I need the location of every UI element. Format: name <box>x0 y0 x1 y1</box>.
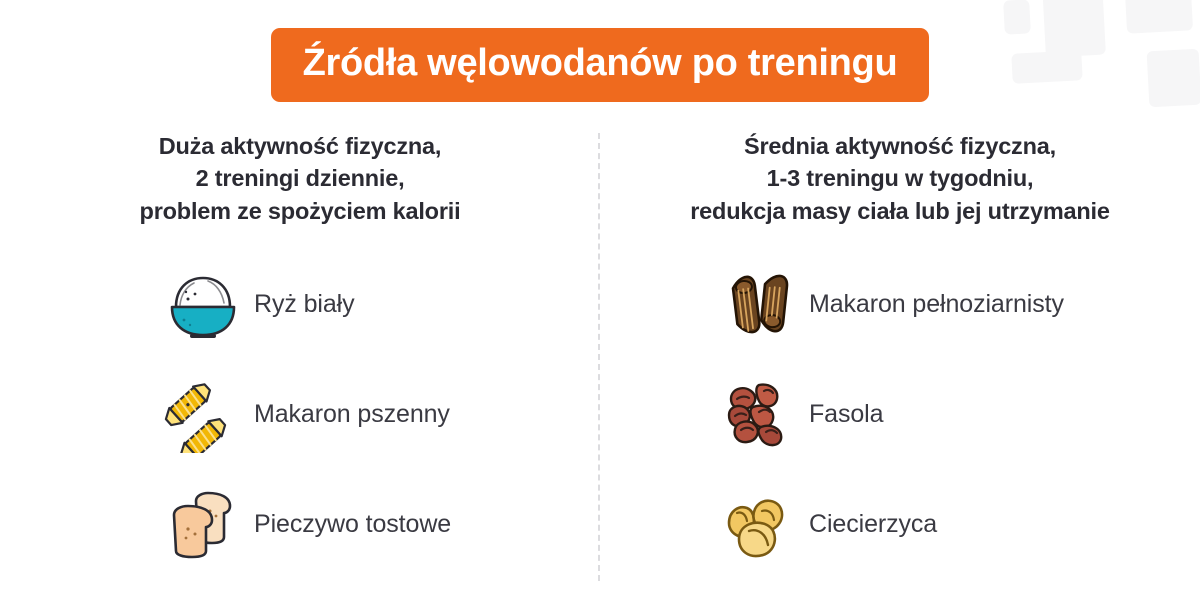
infographic-root: Źródła węlowodanów po treningu Duża akty… <box>0 0 1200 609</box>
list-item[interactable]: Makaron pszenny <box>20 359 580 469</box>
list-item[interactable]: Makaron pełnoziarnisty <box>620 249 1180 359</box>
list-item[interactable]: Fasola <box>620 359 1180 469</box>
column-heading-right: Średnia aktywność fizyczna, 1-3 treningu… <box>690 130 1110 227</box>
item-list-left: Ryż biały <box>20 249 580 579</box>
list-item-label: Fasola <box>809 400 883 429</box>
wheat-pasta-icon <box>160 371 246 457</box>
list-item-label: Makaron pszenny <box>254 400 450 429</box>
page-title: Źródła węlowodanów po treningu <box>303 44 898 84</box>
list-item[interactable]: Ciecierzyca <box>620 469 1180 579</box>
rice-bowl-icon <box>160 261 246 347</box>
column-medium-activity: Średnia aktywność fizyczna, 1-3 treningu… <box>600 130 1200 600</box>
list-item-label: Pieczywo tostowe <box>254 510 451 539</box>
list-item-label: Makaron pełnoziarnisty <box>809 290 1064 319</box>
list-item-label: Ciecierzyca <box>809 510 937 539</box>
column-heading-left: Duża aktywność fizyczna, 2 treningi dzie… <box>140 130 461 227</box>
wholegrain-pasta-icon <box>715 261 801 347</box>
beans-icon <box>715 371 801 457</box>
chickpeas-icon <box>715 481 801 567</box>
toast-bread-icon <box>160 481 246 567</box>
title-banner: Źródła węlowodanów po treningu <box>271 28 930 102</box>
title-banner-wrap: Źródła węlowodanów po treningu <box>0 28 1200 102</box>
column-high-activity: Duża aktywność fizyczna, 2 treningi dzie… <box>0 130 600 600</box>
columns-container: Duża aktywność fizyczna, 2 treningi dzie… <box>0 130 1200 600</box>
item-list-right: Makaron pełnoziarnisty <box>620 249 1180 579</box>
list-item-label: Ryż biały <box>254 290 355 319</box>
list-item[interactable]: Pieczywo tostowe <box>20 469 580 579</box>
list-item[interactable]: Ryż biały <box>20 249 580 359</box>
